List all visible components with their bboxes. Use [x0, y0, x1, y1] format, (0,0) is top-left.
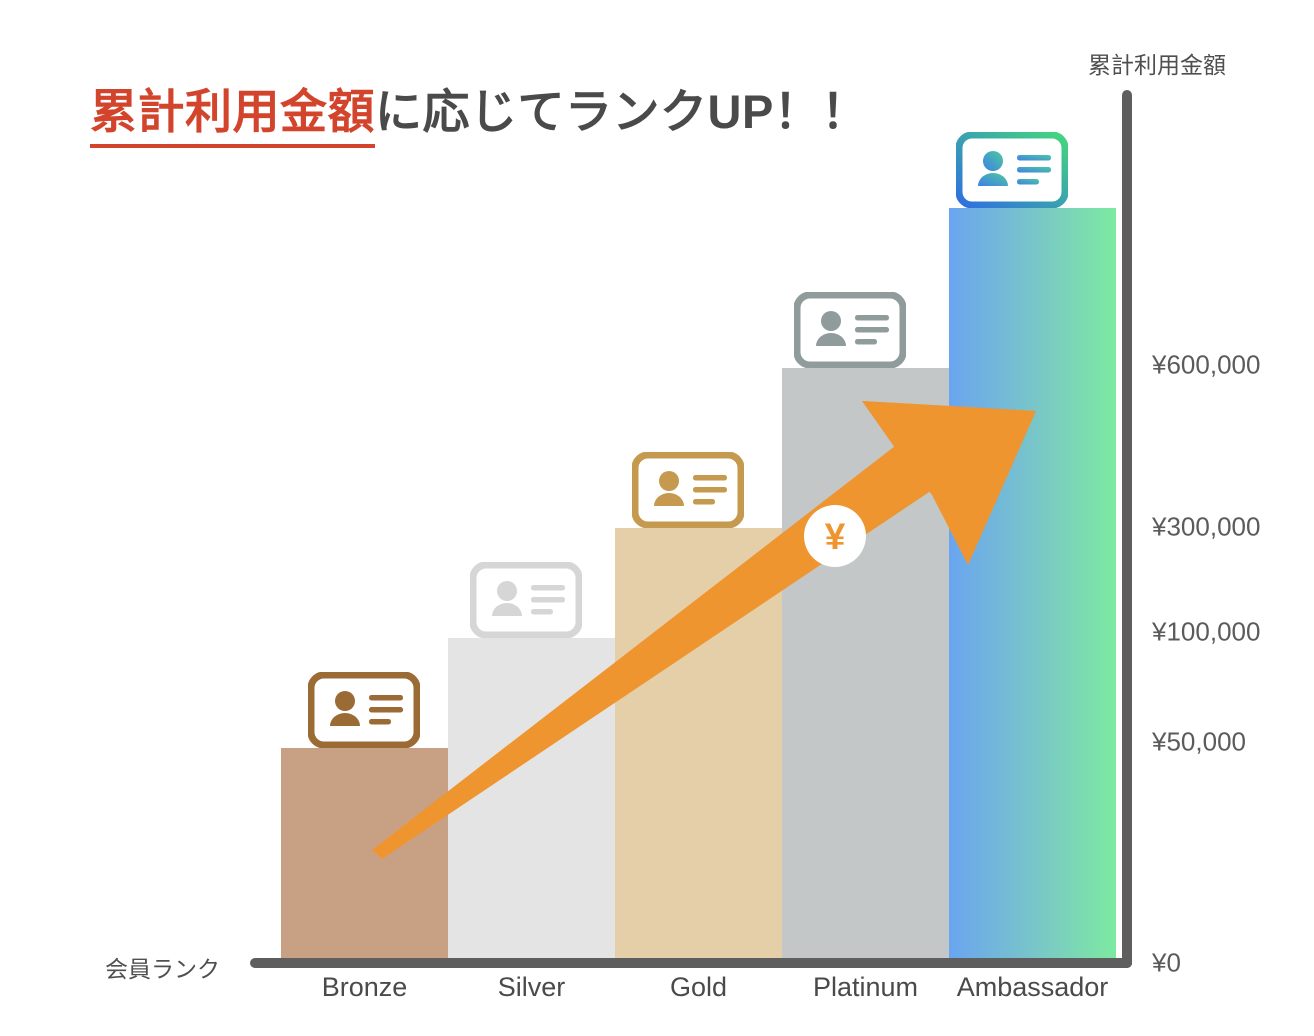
member-card-icon-bronze: [308, 672, 420, 748]
x-axis-line: [250, 958, 1132, 968]
x-tick-label-silver: Silver: [448, 972, 615, 1003]
member-card-icon-platinum: [794, 292, 906, 368]
bar-bronze: [281, 748, 448, 958]
member-card-icon-ambassador: [956, 132, 1068, 208]
y-tick-label: ¥600,000: [1152, 350, 1260, 381]
member-card-icon-silver: [470, 562, 582, 638]
y-axis-title: 累計利用金額: [1088, 46, 1226, 80]
bar-gold: [615, 528, 782, 958]
bar-ambassador: [949, 208, 1116, 958]
y-tick-label: ¥300,000: [1152, 512, 1260, 543]
bar-platinum: [782, 368, 949, 958]
yen-coin-icon: ¥: [804, 505, 866, 567]
member-card-icon-gold: [632, 452, 744, 528]
rank-chart-infographic: 累計利用金額に応じてランクUP！！ 累計利用金額 会員ランク ¥600,000 …: [0, 0, 1314, 1036]
y-axis-line: [1122, 90, 1132, 968]
bar-silver: [448, 638, 615, 958]
x-axis-title: 会員ランク: [105, 950, 220, 984]
x-tick-label-ambassador: Ambassador: [949, 972, 1116, 1003]
x-tick-label-gold: Gold: [615, 972, 782, 1003]
y-tick-label: ¥0: [1152, 948, 1181, 979]
x-tick-label-bronze: Bronze: [281, 972, 448, 1003]
x-tick-label-platinum: Platinum: [782, 972, 949, 1003]
y-tick-label: ¥100,000: [1152, 617, 1260, 648]
y-tick-label: ¥50,000: [1152, 727, 1246, 758]
